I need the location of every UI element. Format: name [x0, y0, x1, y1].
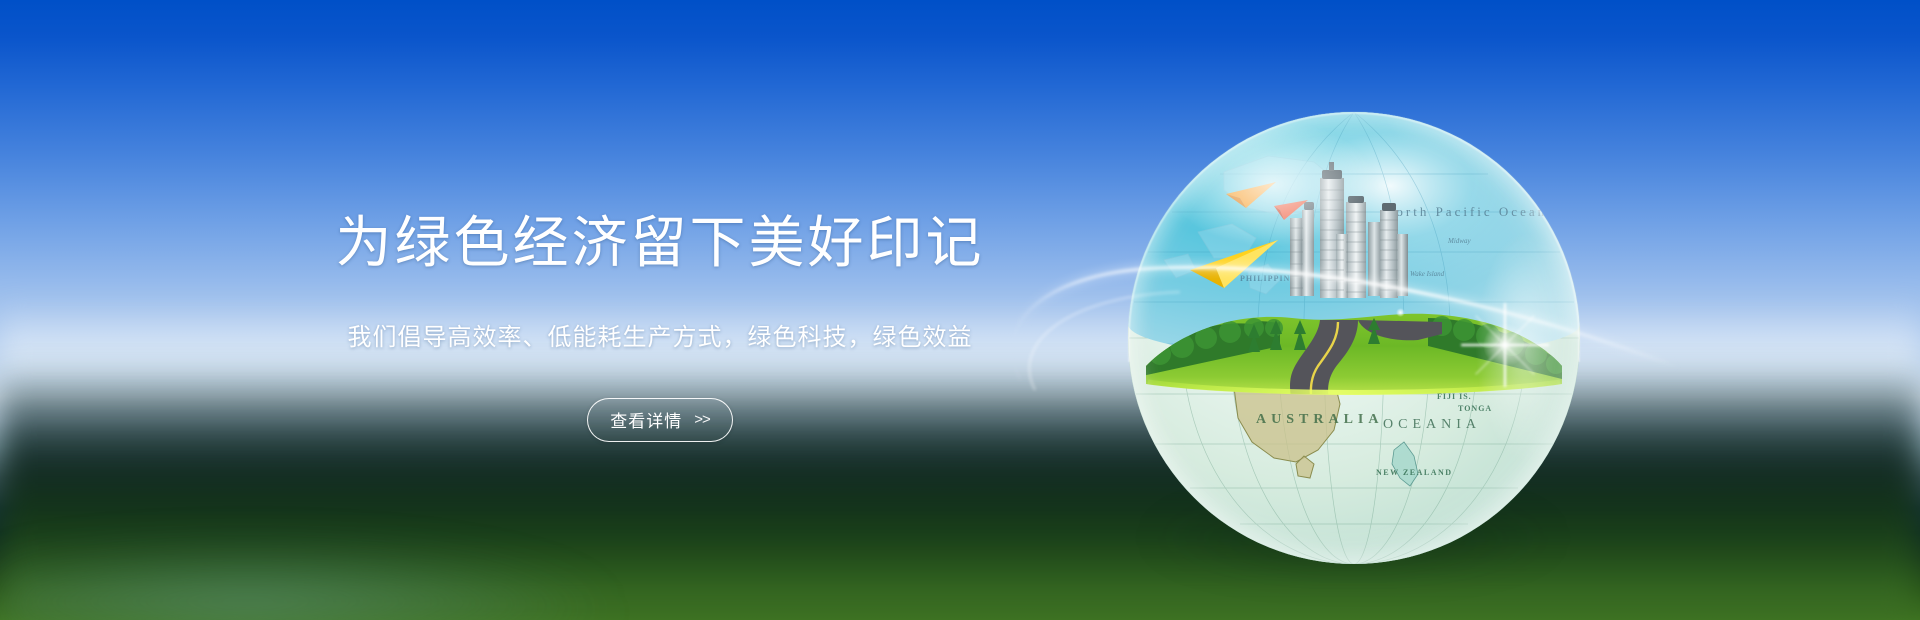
view-details-label: 查看详情 — [610, 407, 682, 432]
page-title: 为绿色经济留下美好印记 — [0, 212, 1320, 275]
ground-glow — [0, 540, 620, 620]
hero-banner: AUSTRALIA OCEANIA NEW ZEALAND PAPUA NEW … — [0, 0, 1920, 620]
cta-container: 查看详情 >> — [0, 398, 1320, 442]
view-details-button[interactable]: 查看详情 >> — [587, 398, 733, 442]
lens-flare-dot — [1396, 308, 1405, 317]
hero-copy-block: 为绿色经济留下美好印记 我们倡导高效率、低能耗生产方式，绿色科技，绿色效益 查看… — [0, 212, 1320, 442]
double-chevron-right-icon: >> — [694, 411, 710, 428]
hero-subtitle: 我们倡导高效率、低能耗生产方式，绿色科技，绿色效益 — [0, 317, 1320, 352]
